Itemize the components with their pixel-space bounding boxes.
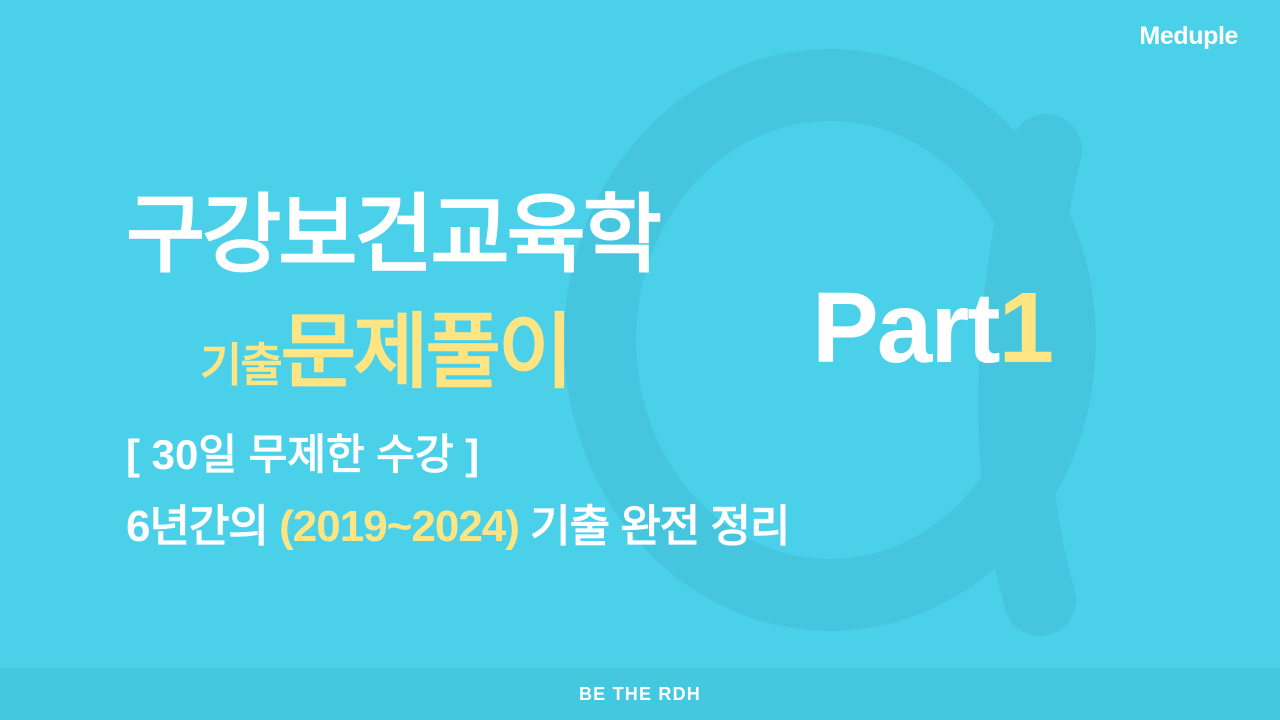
content-area: 구강보건교육학 기출 문제풀이 Part1 [ 30일 무제한 수강 ] 6년간… [0, 0, 1280, 668]
subtitle-row: 기출 문제풀이 [200, 312, 570, 394]
bullet-duration: [ 30일 무제한 수강 ] [126, 434, 479, 476]
bullet-coverage-prefix: 6년간의 [126, 502, 279, 551]
bullet-coverage-suffix: 기출 완전 정리 [519, 502, 790, 551]
part-number: 1 [999, 272, 1053, 384]
subtitle-prefix: 기출 [200, 342, 281, 394]
subtitle-main: 문제풀이 [281, 312, 571, 394]
bullet-coverage: 6년간의 (2019~2024) 기출 완전 정리 [126, 505, 789, 549]
bullet-coverage-years: (2019~2024) [279, 502, 519, 551]
slide-canvas: Meduple 구강보건교육학 기출 문제풀이 Part1 [ 30일 무제한 … [0, 0, 1280, 720]
part-label: Part1 [812, 278, 1052, 378]
page-title: 구강보건교육학 [126, 192, 659, 278]
footer-band: BE THE RDH [0, 668, 1280, 720]
footer-tagline: BE THE RDH [579, 684, 701, 705]
part-word: Part [812, 272, 999, 384]
